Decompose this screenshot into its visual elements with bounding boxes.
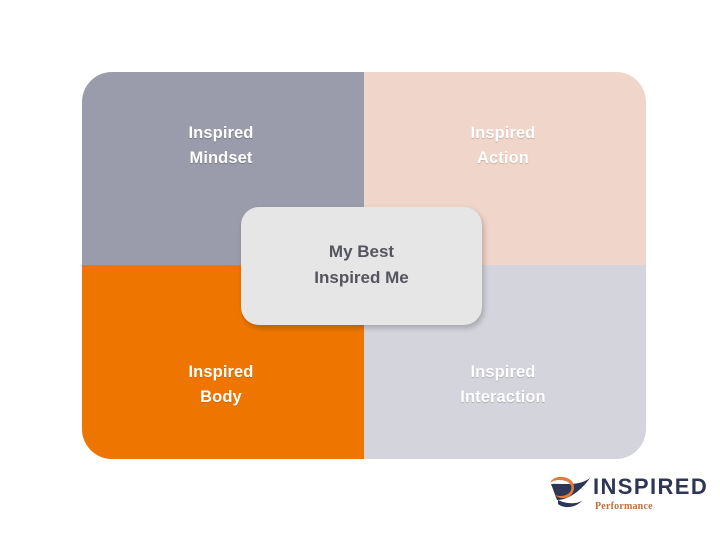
- quadrant-label-inspired-interaction: Inspired Interaction: [460, 360, 545, 410]
- logo-tagline: Performance: [595, 502, 713, 512]
- logo-text-block: INSPIRED Performance: [593, 476, 713, 512]
- logo-wordmark: INSPIRED: [593, 476, 713, 498]
- inspired-performance-logo: INSPIRED Performance: [548, 472, 713, 522]
- quadrant-label-inspired-body: Inspired Body: [189, 360, 254, 410]
- quadrant-label-inspired-action: Inspired Action: [471, 121, 536, 171]
- center-card-my-best-inspired-me[interactable]: My Best Inspired Me: [241, 207, 482, 325]
- quadrant-label-inspired-mindset: Inspired Mindset: [189, 121, 254, 171]
- swoosh-bird-icon: [548, 474, 592, 514]
- slide-canvas: Inspired Mindset Inspired Action Inspire…: [0, 0, 720, 540]
- center-card-label: My Best Inspired Me: [314, 239, 408, 292]
